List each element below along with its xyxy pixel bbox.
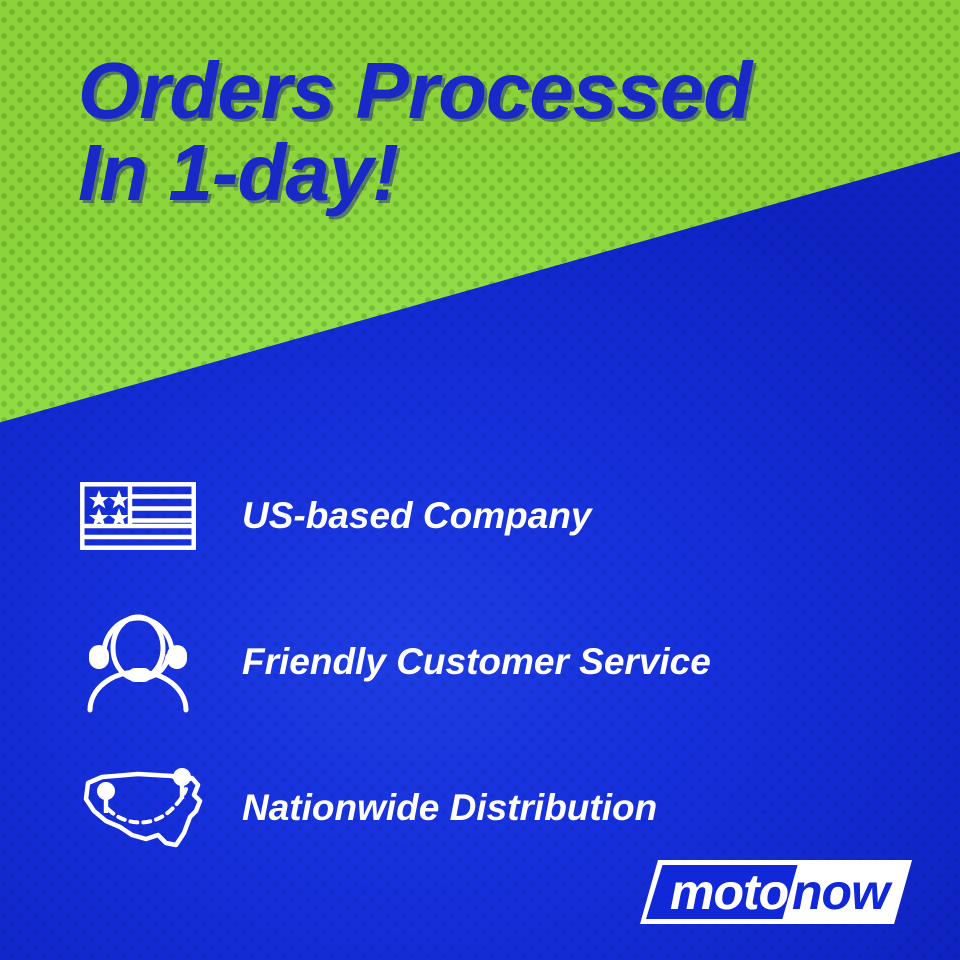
headset-support-icon: [72, 612, 212, 712]
feature-label-us-based: US-based Company: [242, 495, 592, 537]
us-map-pins-icon: [72, 765, 212, 851]
promo-banner: Orders Processed In 1-day!: [0, 0, 960, 960]
headline-line-2: In 1-day!: [78, 134, 918, 212]
feature-row-us-based: US-based Company: [72, 443, 912, 589]
motonow-logo[interactable]: moto now: [640, 856, 912, 928]
logo-text-now: now: [792, 864, 893, 920]
feature-list: US-based Company: [72, 443, 912, 881]
logo-text-moto: moto: [670, 864, 788, 920]
feature-label-customer-service: Friendly Customer Service: [242, 641, 711, 683]
us-flag-icon: [72, 482, 212, 550]
feature-label-nationwide: Nationwide Distribution: [242, 787, 657, 829]
feature-row-customer-service: Friendly Customer Service: [72, 589, 912, 735]
headline: Orders Processed In 1-day!: [78, 52, 918, 211]
headline-line-1: Orders Processed: [78, 52, 918, 130]
